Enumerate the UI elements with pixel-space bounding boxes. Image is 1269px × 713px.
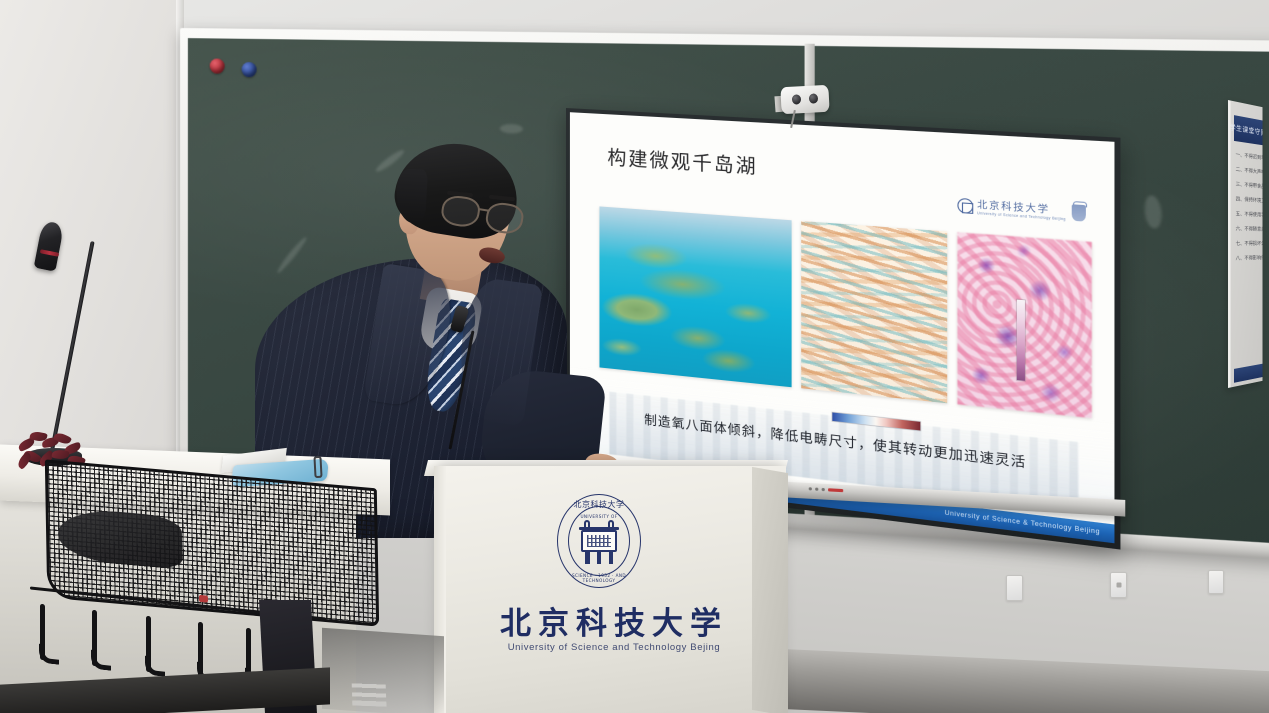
wall-socket[interactable] [1208, 570, 1224, 594]
screen-power-led [828, 488, 843, 492]
poster-line: 四、保持环境卫生 [1236, 196, 1263, 205]
seal-icon [958, 197, 974, 213]
poster-line: 一、不得迟到早退 [1236, 151, 1263, 161]
mesh-storage-basket[interactable] [45, 459, 379, 626]
slide-university-logo: 北京科技大学 University of Science and Technol… [958, 196, 1086, 223]
metal-clip[interactable] [313, 456, 322, 478]
poster-header-text: 学生课堂守则 [1230, 122, 1263, 138]
crest-chinese-arc-text: 北京科技大学 [557, 499, 641, 510]
ding-vessel-icon [1072, 204, 1086, 221]
poster-line: 八、不得影响他人 [1236, 254, 1263, 261]
switch-rocker-icon [1116, 583, 1121, 588]
wall-poster: 学生课堂守则 一、不得迟到早退 二、不得大声喧哗 三、不得带食品入内 四、保持环… [1228, 100, 1263, 388]
poster-line: 五、不得使用手机 [1236, 210, 1263, 218]
wall-plate-blank[interactable] [1006, 575, 1023, 601]
ding-leg-middle [597, 551, 602, 564]
university-crest: 北京科技大学 UNIVERSITY OF SCIENCE · 1952 · AN… [557, 494, 641, 588]
basket-hook[interactable] [198, 622, 203, 679]
magnet-red[interactable] [210, 58, 225, 73]
figure-thousand-island-lake [599, 206, 791, 387]
poster-header: 学生课堂守则 [1234, 115, 1263, 145]
basket-marker-red [199, 595, 208, 603]
magnet-blue[interactable] [242, 62, 257, 77]
crest-english-top: UNIVERSITY OF [557, 514, 641, 519]
podium-name-english: University of Science and Technology Bej… [442, 642, 786, 653]
poster-line: 二、不得大声喧哗 [1236, 166, 1263, 176]
crest-english-bottom: SCIENCE · 1952 · AND TECHNOLOGY [557, 573, 641, 583]
screen-control-buttons[interactable] [809, 487, 844, 492]
basket-hook[interactable] [40, 604, 45, 661]
screen-button-dot[interactable] [822, 488, 825, 491]
lecture-hall-scene: 构建微观千岛湖 北京科技大学 University of Science and… [0, 0, 1269, 713]
basket-hook[interactable] [146, 616, 151, 673]
ding-vessel-emblem [579, 520, 619, 564]
ding-leg-right [609, 551, 614, 564]
ding-body [581, 530, 617, 552]
slide-title: 构建微观千岛湖 [607, 142, 757, 179]
figure-pfm-stripe-domains [801, 221, 947, 403]
wall-switch[interactable] [1110, 572, 1127, 598]
podium-name-chinese: 北京科技大学 [442, 598, 786, 643]
glasses-lens-left [439, 193, 481, 229]
cabinet-vent-icon [352, 679, 387, 706]
podium-university-branding: 北京科技大学 UNIVERSITY OF SCIENCE · 1952 · AN… [442, 466, 786, 713]
basket-hook[interactable] [92, 610, 97, 667]
poster-line: 三、不得带食品入内 [1236, 181, 1263, 190]
poster-footer-bar [1234, 364, 1263, 383]
glasses-lens-right [484, 201, 525, 236]
vertical-colorbar [1017, 300, 1025, 381]
poster-line: 六、不得随意走动 [1236, 225, 1263, 232]
screen-button-dot[interactable] [816, 488, 819, 491]
poster-body: 一、不得迟到早退 二、不得大声喧哗 三、不得带食品入内 四、保持环境卫生 五、不… [1236, 151, 1263, 363]
camera-lens-left [792, 94, 802, 104]
dual-lens-camera-icon [780, 85, 829, 114]
poster-line: 七、不得损坏公物 [1236, 240, 1263, 247]
ding-leg-left [585, 551, 590, 564]
screen-button-dot[interactable] [809, 487, 812, 490]
camera-lens-right [809, 93, 819, 103]
